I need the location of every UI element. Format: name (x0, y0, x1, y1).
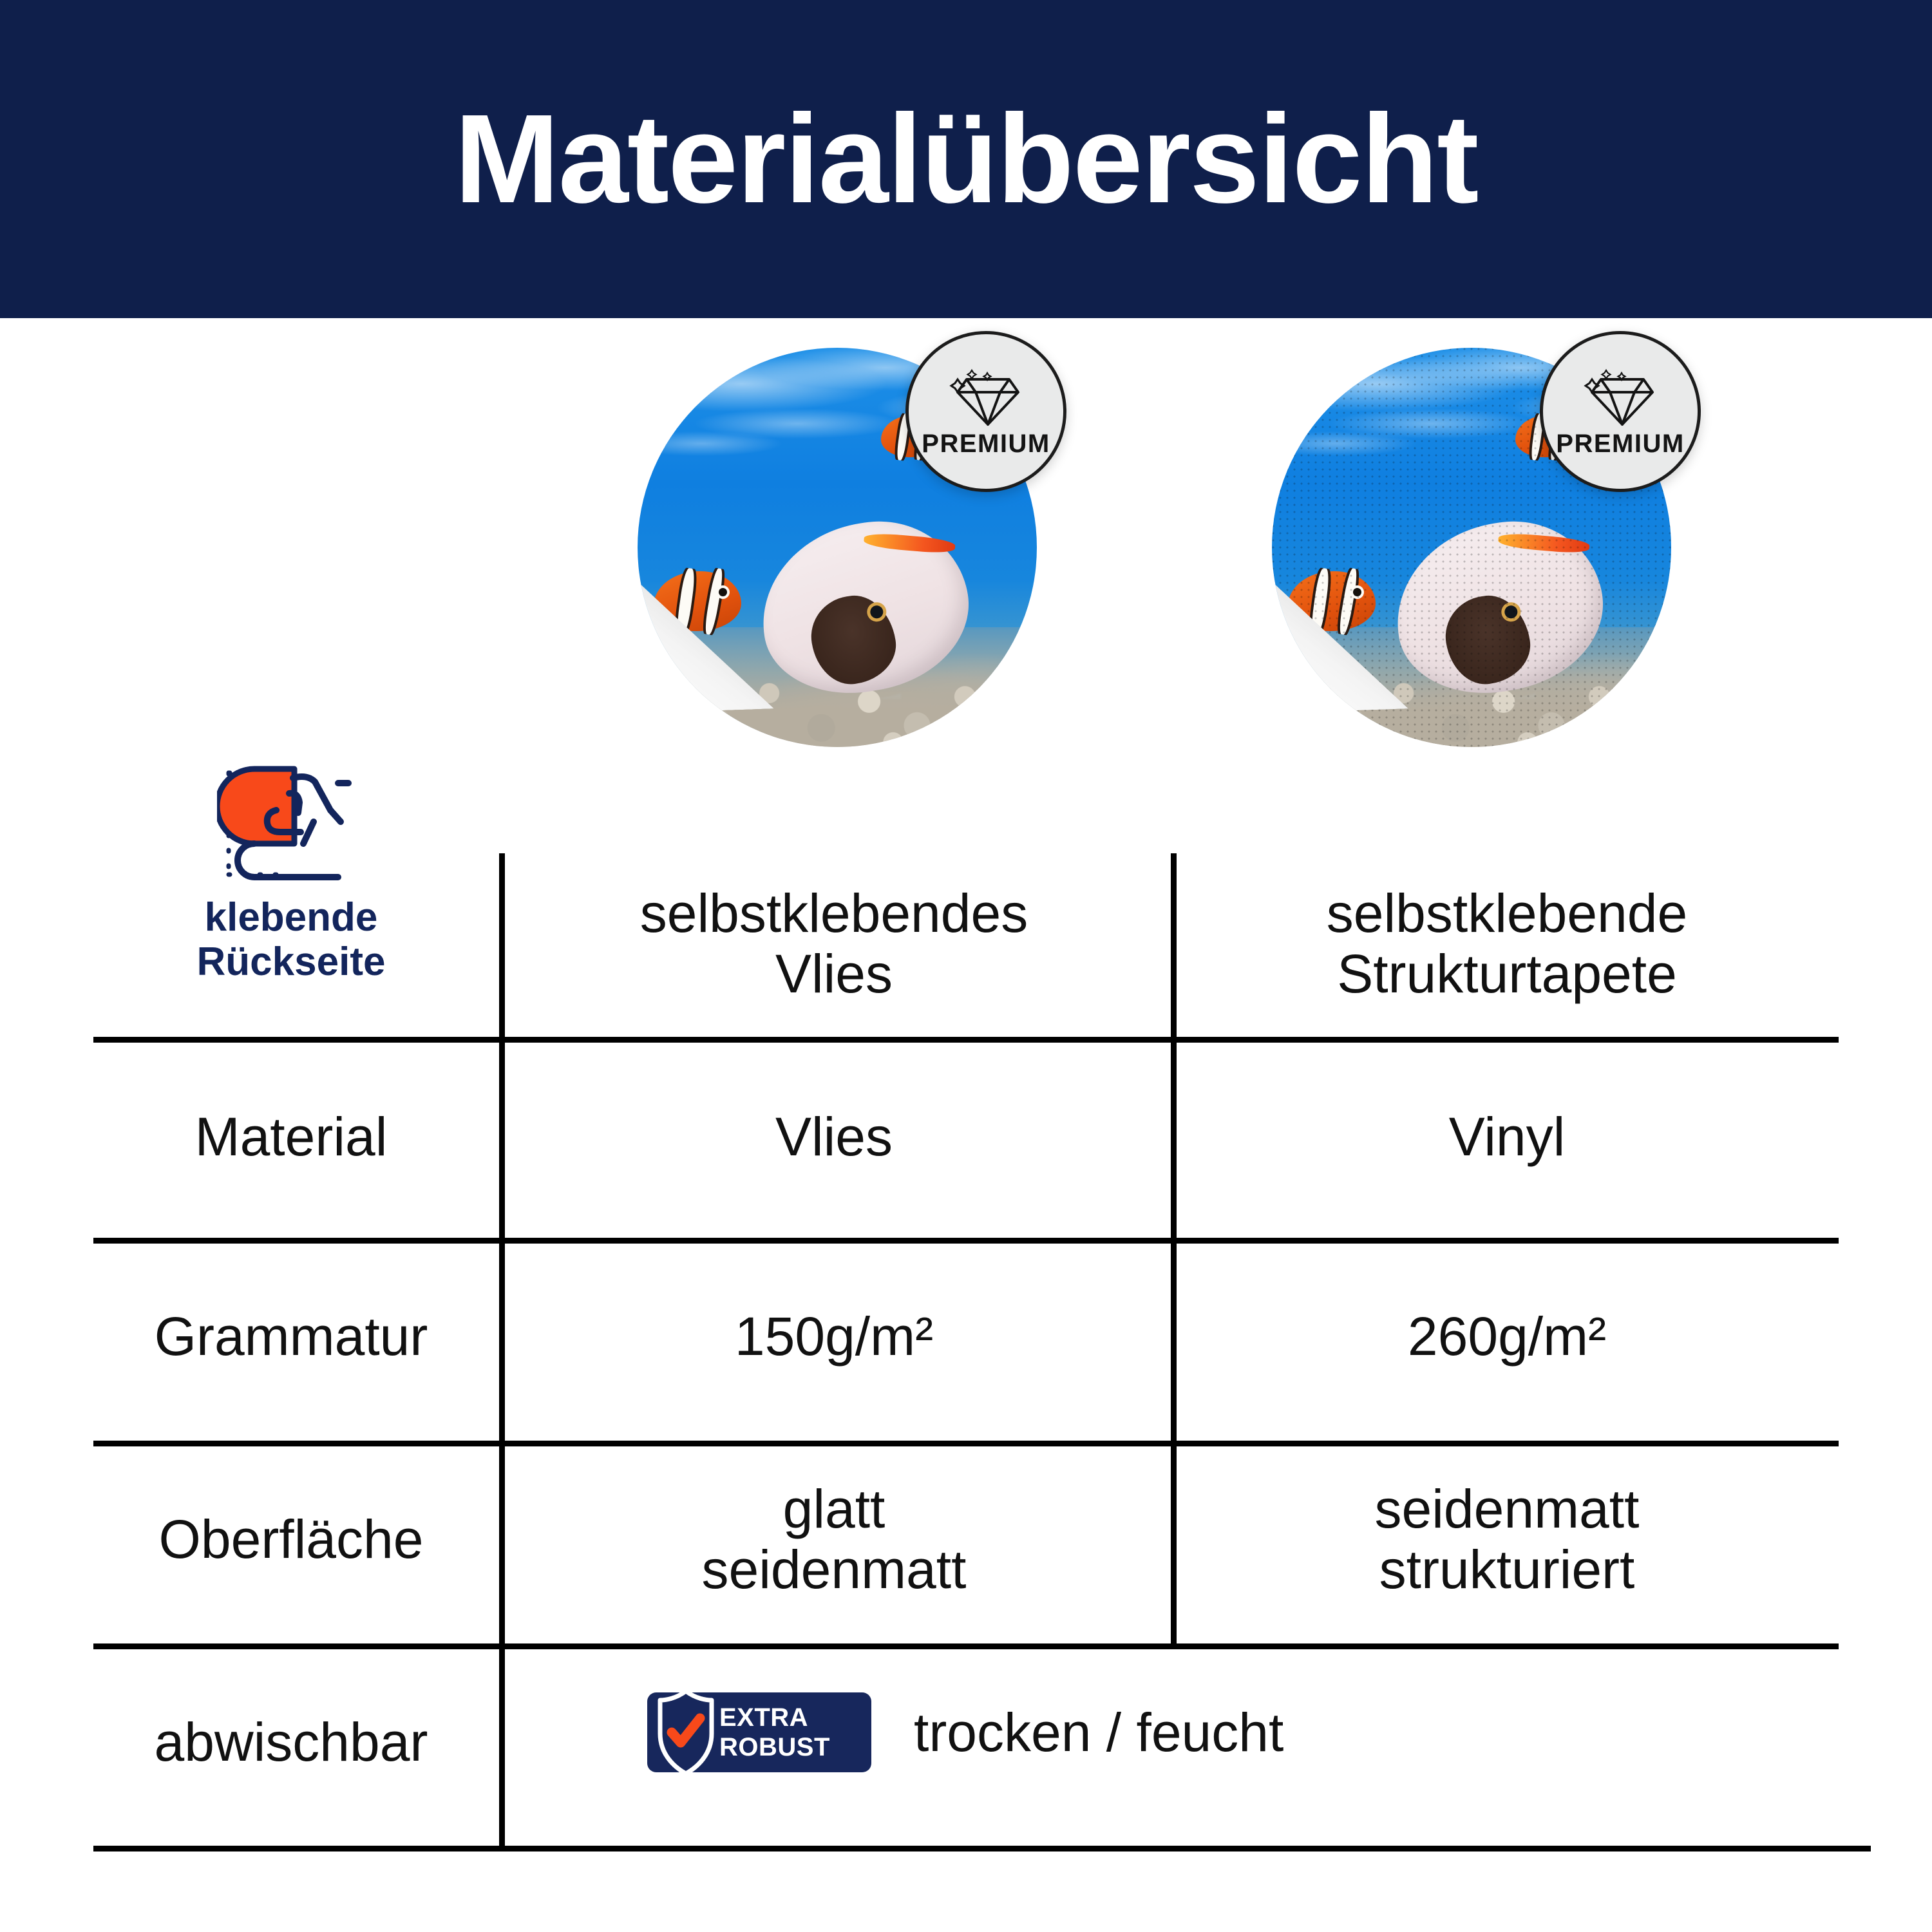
table-rule-3 (93, 1441, 1839, 1446)
peel-sticker-icon (217, 760, 365, 889)
cell-material-vlies: Vlies (509, 1043, 1159, 1230)
row-label-grammatur: Grammatur (98, 1243, 484, 1430)
table-rule-4 (93, 1643, 1839, 1649)
cell-abwischbar-value: trocken / feucht (914, 1701, 1283, 1764)
adhesive-backing-block: klebende Rückseite (98, 760, 484, 985)
extra-robust-line2: ROBUST (719, 1734, 830, 1760)
cell-grammatur-vlies: 150g/m² (509, 1243, 1159, 1430)
adhesive-label-line1: klebende (197, 895, 386, 940)
cell-material-vinyl: Vinyl (1182, 1043, 1832, 1230)
column-header-vlies: selbstklebendes Vlies (509, 857, 1159, 1030)
cell-oberflaeche-vinyl: seidenmatt strukturiert (1182, 1446, 1832, 1633)
extra-robust-badge: EXTRA ROBUST (647, 1692, 871, 1772)
adhesive-label-line2: Rückseite (197, 940, 386, 984)
row-label-abwischbar: abwischbar (98, 1649, 484, 1835)
table-rule-2 (93, 1238, 1839, 1244)
comparison-table: klebende Rückseite selbstklebendes Vlies… (0, 0, 1932, 1932)
cell-grammatur-vinyl: 260g/m² (1182, 1243, 1832, 1430)
extra-robust-line1: EXTRA (719, 1705, 830, 1730)
row-label-oberflaeche: Oberfläche (98, 1446, 484, 1633)
table-divider-col2 (1171, 853, 1177, 1649)
column-header-strukturtapete: selbstklebende Strukturtapete (1182, 857, 1832, 1030)
cell-oberflaeche-vlies: glatt seidenmatt (509, 1446, 1159, 1633)
table-divider-col1 (499, 853, 505, 1851)
table-rule-1 (93, 1037, 1839, 1043)
row-label-material: Material (98, 1043, 484, 1230)
wipeable-value-group: EXTRA ROBUST trocken / feucht (647, 1692, 1283, 1772)
table-rule-bottom (93, 1846, 1871, 1851)
shield-check-icon (656, 1689, 715, 1776)
